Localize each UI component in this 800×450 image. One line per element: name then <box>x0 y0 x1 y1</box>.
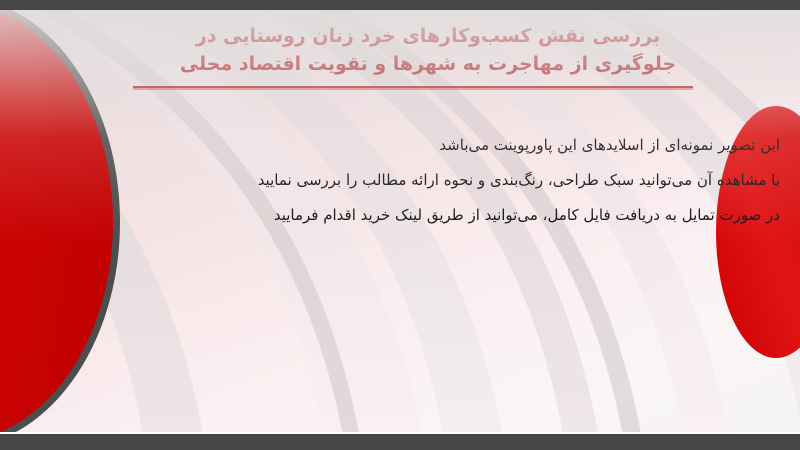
body-line-2: با مشاهده آن می‌توانید سبک طراحی، رنگ‌بن… <box>60 163 780 198</box>
slide-background-panel: بررسی نقش کسب‌وکارهای خرد زنان روستایی د… <box>0 10 800 434</box>
body-line-1: این تصویر نمونه‌ای از اسلایدهای این پاور… <box>60 128 780 163</box>
dark-bar-top <box>0 0 800 10</box>
slide-title: بررسی نقش کسب‌وکارهای خرد زنان روستایی د… <box>78 22 778 78</box>
body-line-3: در صورت تمایل به دریافت فایل کامل، می‌تو… <box>60 198 780 233</box>
presentation-slide: بررسی نقش کسب‌وکارهای خرد زنان روستایی د… <box>0 0 800 450</box>
slide-body: این تصویر نمونه‌ای از اسلایدهای این پاور… <box>60 128 780 233</box>
slide-title-line-1: بررسی نقش کسب‌وکارهای خرد زنان روستایی د… <box>78 22 778 50</box>
slide-title-line-2: جلوگیری از مهاجرت به شهرها و تقویت اقتصا… <box>78 50 778 78</box>
dark-bar-bottom <box>0 434 800 450</box>
title-underline-rule <box>133 86 693 88</box>
